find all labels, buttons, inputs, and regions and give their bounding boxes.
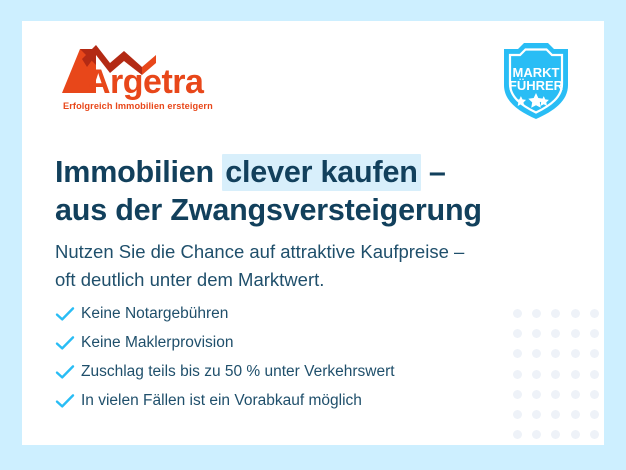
ad-banner: Argetra Erfolgreich Immobilien ersteiger… <box>0 0 626 470</box>
decorative-dot <box>532 309 541 318</box>
subheadline: Nutzen Sie die Chance auf attraktive Kau… <box>55 238 555 294</box>
decorative-dot <box>590 410 599 419</box>
headline-line2: aus der Zwangsversteigerung <box>55 191 555 229</box>
decorative-dot <box>571 349 580 358</box>
decorative-dot <box>551 430 560 439</box>
check-icon <box>55 334 81 352</box>
decorative-dot <box>532 410 541 419</box>
decorative-dot <box>571 390 580 399</box>
decorative-dot <box>571 430 580 439</box>
decorative-dot <box>551 349 560 358</box>
decorative-dot <box>571 329 580 338</box>
decorative-dot <box>551 370 560 379</box>
benefit-label: Keine Maklerprovision <box>81 334 234 352</box>
decorative-dot <box>590 430 599 439</box>
logo-mark-icon: Argetra Erfolgreich Immobilien ersteiger… <box>56 43 226 115</box>
headline-highlight: clever kaufen <box>222 154 420 191</box>
decorative-dot <box>590 390 599 399</box>
headline: Immobilien clever kaufen – aus der Zwang… <box>55 153 555 229</box>
subheadline-line1: Nutzen Sie die Chance auf attraktive Kau… <box>55 238 555 266</box>
shield-badge-icon: MARKT FÜHRER <box>490 35 582 127</box>
headline-part2: – <box>421 155 446 189</box>
decorative-dot <box>532 329 541 338</box>
benefit-label: Zuschlag teils bis zu 50 % unter Verkehr… <box>81 363 395 381</box>
subheadline-line2: oft deutlich unter dem Marktwert. <box>55 266 555 294</box>
list-item: Zuschlag teils bis zu 50 % unter Verkehr… <box>55 357 525 386</box>
list-item: Keine Maklerprovision <box>55 328 525 357</box>
decorative-dot <box>513 430 522 439</box>
svg-text:Argetra: Argetra <box>86 63 205 101</box>
list-item: In vielen Fällen ist ein Vorabkauf mögli… <box>55 386 525 415</box>
check-icon <box>55 392 81 410</box>
decorative-dot <box>532 430 541 439</box>
badge-line2: FÜHRER <box>509 78 564 93</box>
decorative-dot <box>551 410 560 419</box>
benefit-label: In vielen Fällen ist ein Vorabkauf mögli… <box>81 392 362 410</box>
check-icon <box>55 305 81 323</box>
decorative-dot <box>551 390 560 399</box>
decorative-dot <box>590 329 599 338</box>
decorative-dot <box>590 309 599 318</box>
list-item: Keine Notargebühren <box>55 299 525 328</box>
check-icon <box>55 363 81 381</box>
decorative-dot <box>571 309 580 318</box>
decorative-dot <box>571 370 580 379</box>
argetra-logo: Argetra Erfolgreich Immobilien ersteiger… <box>56 43 226 115</box>
decorative-dot <box>590 370 599 379</box>
decorative-dot <box>590 349 599 358</box>
ad-card: Argetra Erfolgreich Immobilien ersteiger… <box>22 21 604 445</box>
markt-fuehrer-badge: MARKT FÜHRER <box>490 35 582 127</box>
benefits-list: Keine Notargebühren Keine Maklerprovisio… <box>55 299 525 415</box>
decorative-dot <box>532 390 541 399</box>
decorative-dot <box>571 410 580 419</box>
benefit-label: Keine Notargebühren <box>81 305 228 323</box>
headline-part1: Immobilien <box>55 155 222 189</box>
decorative-dot <box>532 349 541 358</box>
svg-text:Erfolgreich Immobilien ersteig: Erfolgreich Immobilien ersteigern <box>63 101 213 111</box>
decorative-dot <box>551 329 560 338</box>
decorative-dot <box>532 370 541 379</box>
decorative-dot <box>551 309 560 318</box>
